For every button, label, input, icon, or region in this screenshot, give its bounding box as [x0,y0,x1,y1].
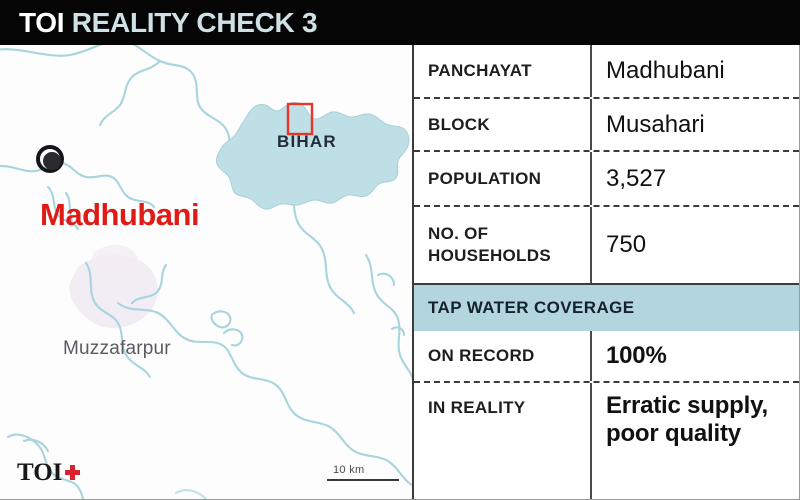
row-value: Musahari [592,99,799,150]
row-value-text: 100% [606,342,789,370]
plus-icon [65,465,80,480]
infographic-root: TOI REALITY CHECK 3 [0,0,800,500]
map-graphic [0,45,412,500]
bihar-inset-map [216,102,409,209]
row-label: PANCHAYAT [414,45,592,97]
row-label-text: POPULATION [428,168,590,190]
table-row: NO. OF HOUSEHOLDS 750 [414,207,799,285]
location-marker-icon [36,145,70,179]
table-row: IN REALITY Erratic supply, poor quality [414,383,799,500]
scale-line [327,479,399,481]
row-label-text: ON RECORD [428,345,590,367]
table-row: BLOCK Musahari [414,99,799,152]
row-value: 100% [592,331,799,381]
city-label-madhubani: Madhubani [40,197,199,233]
row-value-text: Erratic supply, [606,392,789,420]
row-value: 3,527 [592,152,799,205]
row-value-text: 750 [606,231,789,259]
row-label-text-line2: HOUSEHOLDS [428,245,590,267]
row-label: ON RECORD [414,331,592,381]
scale-label: 10 km [327,463,399,477]
urban-area-shape-2 [91,245,139,282]
toi-logo: TOI [17,460,80,485]
row-value: Madhubani [592,45,799,97]
table-row: POPULATION 3,527 [414,152,799,207]
map-scale-bar: 10 km [327,463,399,481]
row-value-text-line2: poor quality [606,420,789,448]
row-label-text: IN REALITY [428,397,590,419]
row-value-text: Musahari [606,111,789,139]
row-label-text: PANCHAYAT [428,60,590,82]
city-label-muzzafarpur: Muzzafarpur [63,338,171,360]
marker-inner-dot [43,152,61,170]
header-bar: TOI REALITY CHECK 3 [0,0,800,45]
header-brand: TOI [19,7,64,38]
row-label: IN REALITY [414,383,592,500]
state-label: BIHAR [277,132,337,152]
info-table: PANCHAYAT Madhubani BLOCK Musahari POPUL… [412,45,800,500]
row-label: POPULATION [414,152,592,205]
table-banner-row: TAP WATER COVERAGE [414,285,799,331]
row-value: Erratic supply, poor quality [592,383,799,500]
row-value: 750 [592,207,799,283]
banner-label: TAP WATER COVERAGE [428,298,635,318]
toi-logo-text: TOI [17,460,62,485]
header-subtitle: REALITY CHECK 3 [72,7,317,38]
row-value-text: 3,527 [606,165,789,193]
page-title: TOI REALITY CHECK 3 [19,7,317,38]
row-label-text: NO. OF [428,223,590,245]
row-value-text: Madhubani [606,57,789,85]
row-label: NO. OF HOUSEHOLDS [414,207,592,283]
river-network [0,45,412,500]
row-label-text: BLOCK [428,114,590,136]
table-row: PANCHAYAT Madhubani [414,45,799,99]
map-panel: BIHAR Madhubani Muzzafarpur 10 km TOI [0,45,412,500]
row-label: BLOCK [414,99,592,150]
table-row: ON RECORD 100% [414,331,799,383]
